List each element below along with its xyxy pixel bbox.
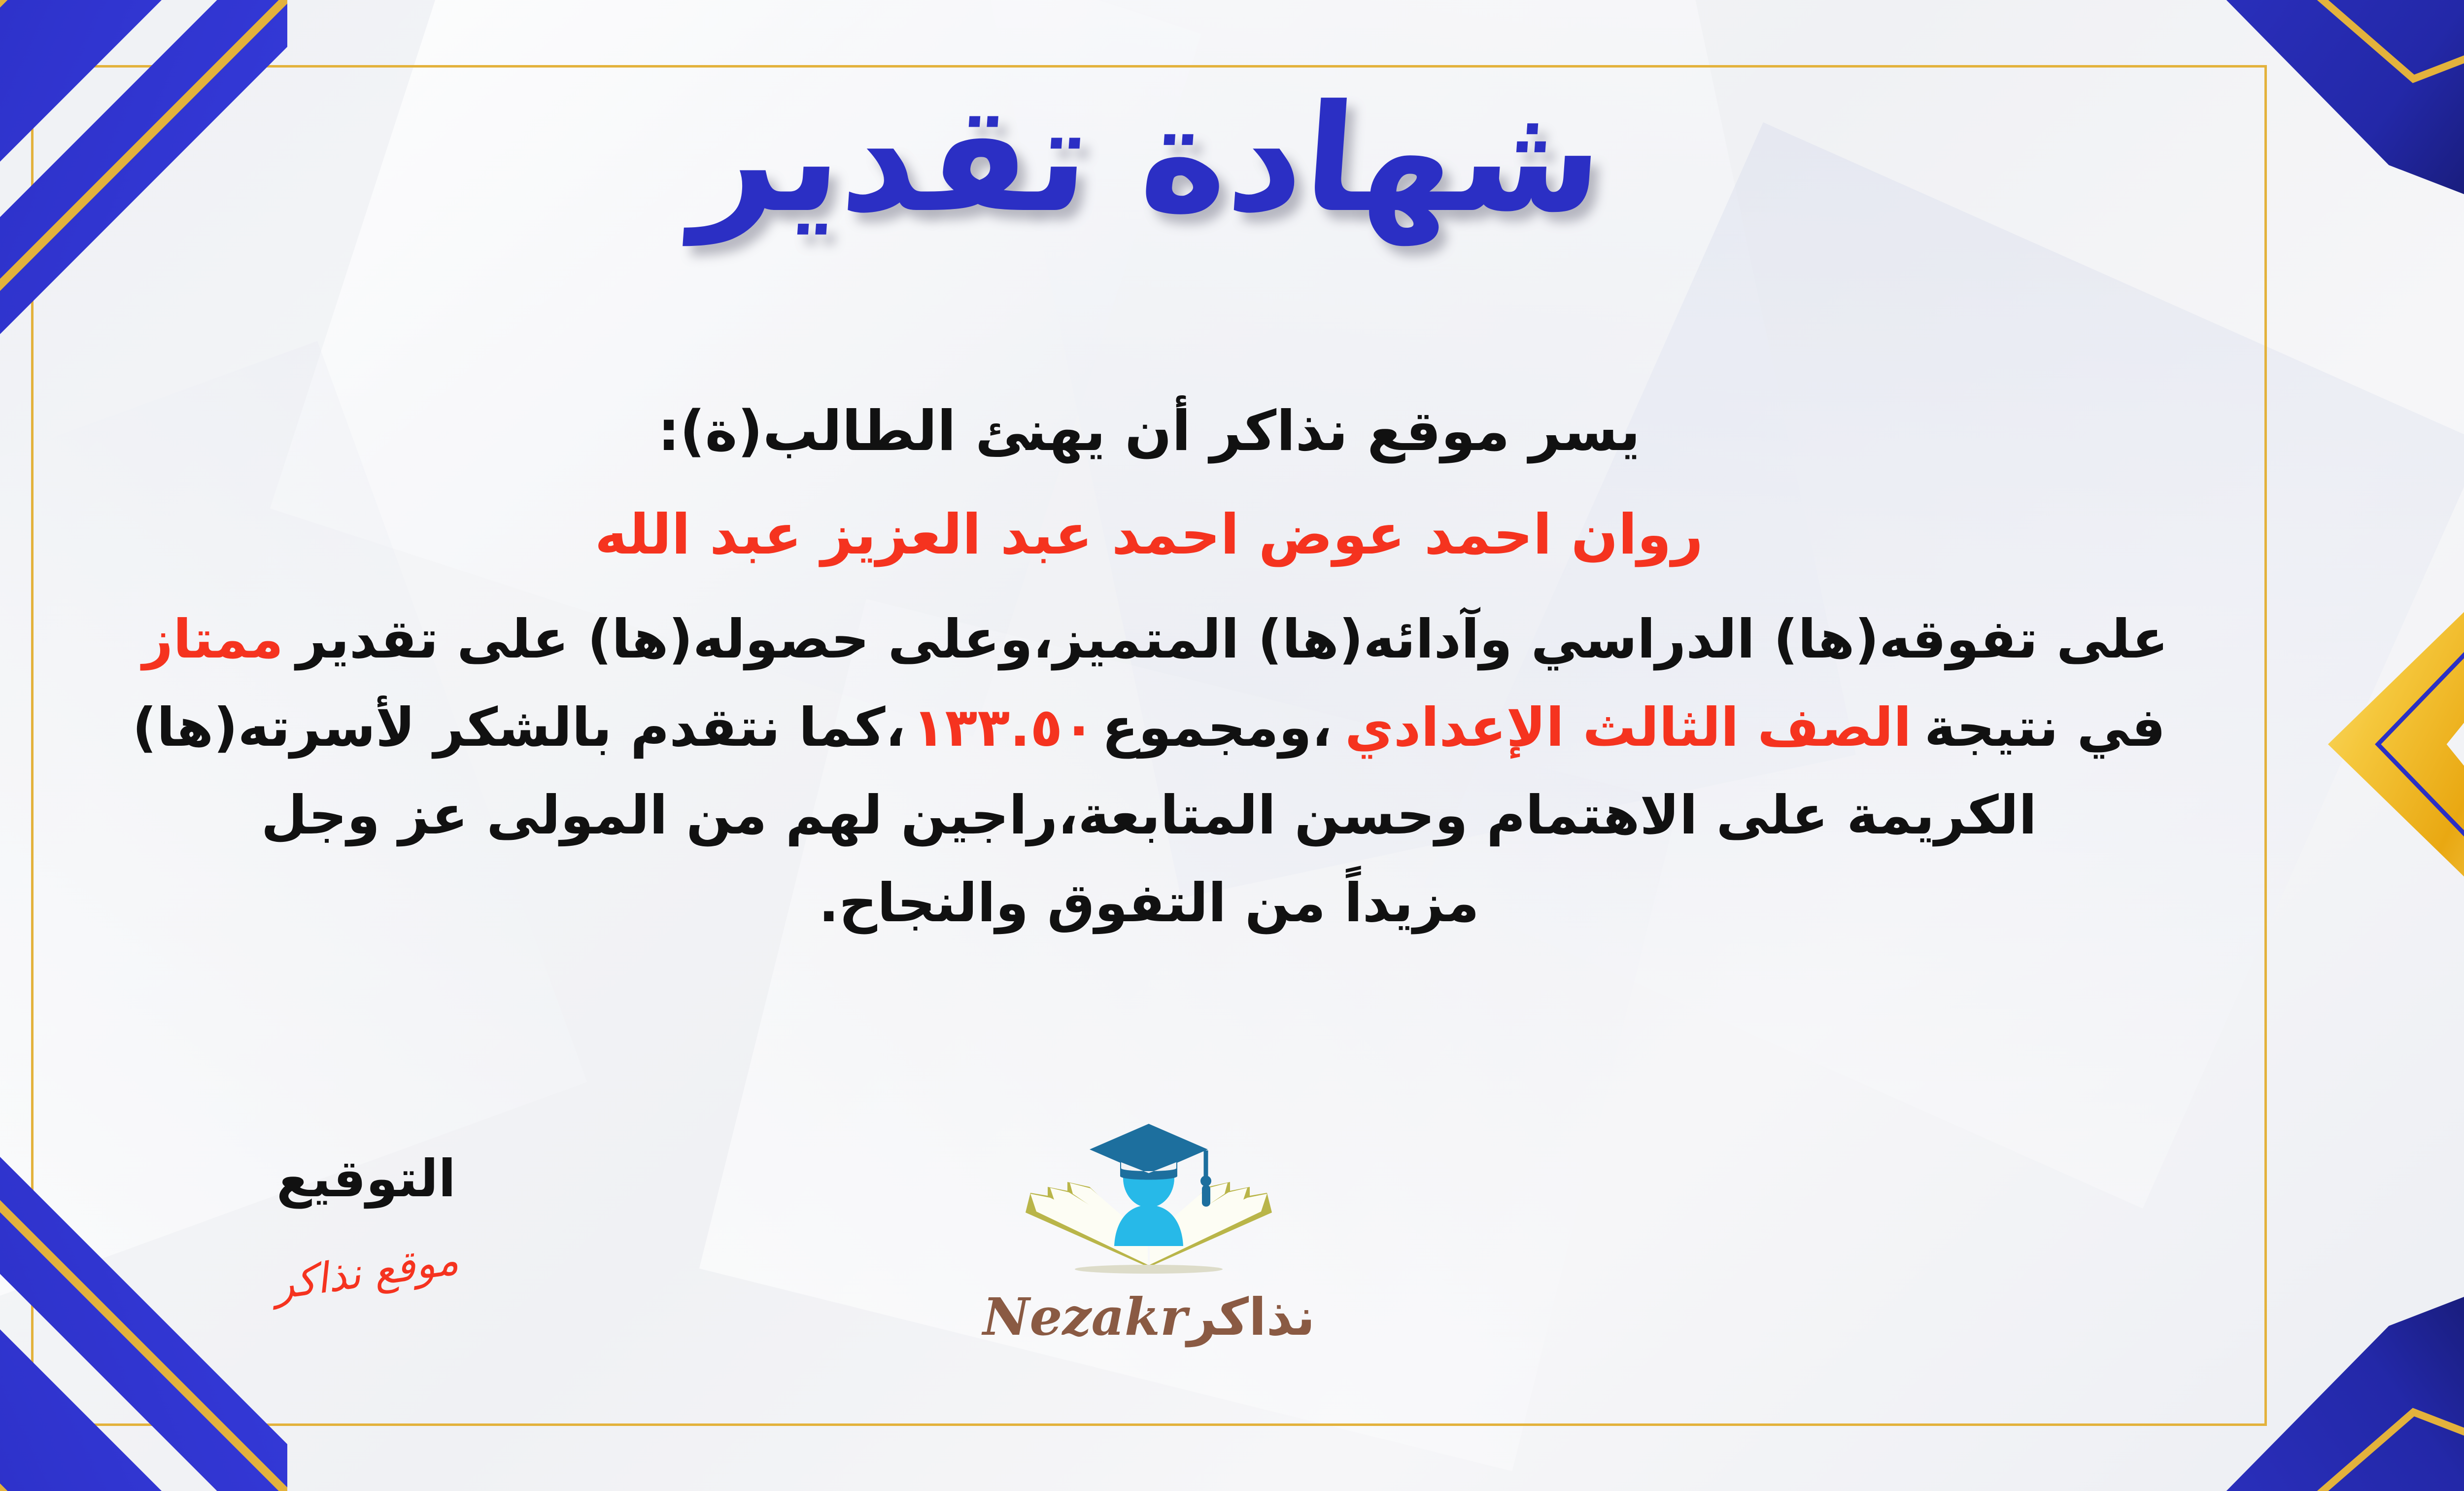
page-title: شهادة تقدير	[689, 74, 1608, 244]
intro-line: يسر موقع نذاكر أن يهنئ الطالب(ة):	[21, 389, 2277, 473]
certificate-title-area: شهادة تقدير	[0, 74, 2464, 244]
site-logo: نذاكرNezakr	[983, 1119, 1315, 1347]
total-value: ١٣٣.٥٠	[906, 697, 1102, 759]
student-name: روان احمد عوض احمد عبد العزيز عبد الله	[21, 493, 2277, 577]
citation-line-4: مزيداً من التفوق والنجاح.	[21, 863, 2277, 944]
citation-line-1: على تفوقه(ها) الدراسي وآدائه(ها) المتميز…	[21, 599, 2277, 680]
logo-name-ar: نذاكر	[1187, 1287, 1315, 1347]
grade-value: ممتاز	[130, 609, 296, 670]
citation-line-3: الكريمة على الاهتمام وحسن المتابعة،راجين…	[21, 775, 2277, 856]
certificate-body: يسر موقع نذاكر أن يهنئ الطالب(ة): روان ا…	[21, 389, 2277, 951]
thanks-text: ،كما نتقدم بالشكر لأسرته(ها)	[132, 697, 905, 759]
citation-text-before-grade: على تفوقه(ها) الدراسي وآدائه(ها) المتميز…	[296, 609, 2168, 670]
logo-wordmark: نذاكرNezakr	[983, 1286, 1315, 1347]
graduate-book-logo-icon	[1011, 1119, 1287, 1282]
logo-name-latin: Nezakr	[983, 1286, 1187, 1347]
total-label: ،ومجموع	[1102, 697, 1332, 759]
citation-paragraph: على تفوقه(ها) الدراسي وآدائه(ها) المتميز…	[21, 599, 2277, 944]
certificate-document: شهادة تقدير يسر موقع نذاكر أن يهنئ الطال…	[0, 0, 2464, 1491]
site-logo-area: نذاكرNezakr	[0, 1119, 2464, 1347]
result-prefix: في نتيجة	[1924, 697, 2166, 759]
citation-line-2: في نتيجةالصف الثالث الإعدادي،ومجموع١٣٣.٥…	[21, 688, 2277, 768]
class-value: الصف الثالث الإعدادي	[1332, 697, 1924, 759]
